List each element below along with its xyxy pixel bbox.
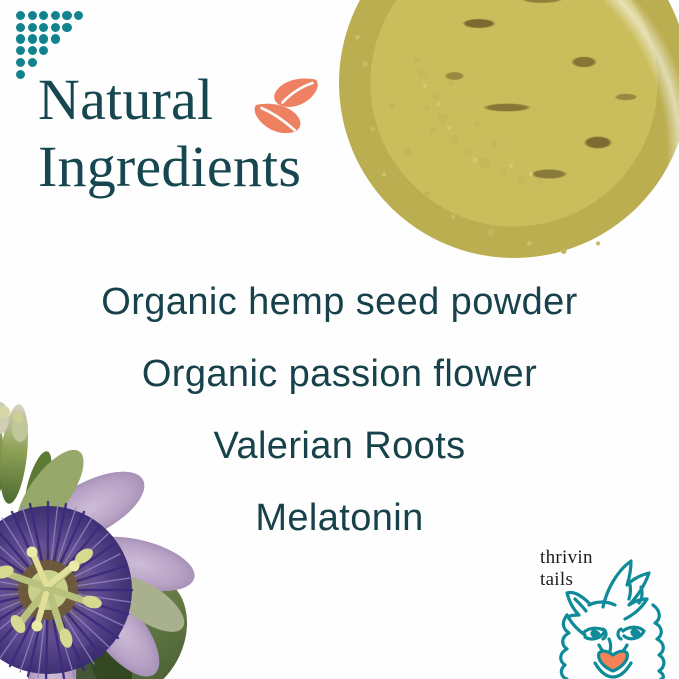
brand-logo: thrivin tails <box>505 545 679 679</box>
logo-dot <box>39 23 48 32</box>
logo-dot <box>62 11 71 20</box>
logo-dot <box>16 11 25 20</box>
logo-dot <box>28 58 37 67</box>
logo-dot <box>16 58 25 67</box>
logo-dot <box>16 46 25 55</box>
logo-dot <box>16 34 25 43</box>
powder-crumbs <box>389 0 679 208</box>
logo-dot <box>28 11 37 20</box>
logo-dot <box>51 11 60 20</box>
natural-ingredients-product-graphic: Natural Ingredients <box>0 0 679 679</box>
logo-dot <box>62 23 71 32</box>
logo-dot <box>39 11 48 20</box>
list-item: Organic hemp seed powder <box>0 266 679 338</box>
logo-dot <box>28 23 37 32</box>
logo-dot <box>39 34 48 43</box>
hemp-seed-powder-photo <box>339 0 679 258</box>
two-leaf-icon <box>253 76 319 138</box>
logo-dot <box>51 34 60 43</box>
logo-dot <box>51 23 60 32</box>
logo-dot <box>28 34 37 43</box>
logo-dot <box>16 70 25 79</box>
logo-dot <box>74 11 83 20</box>
passion-flower-photo <box>0 388 232 679</box>
dog-face-logo <box>545 553 679 679</box>
logo-dot <box>28 46 37 55</box>
logo-dot <box>39 46 48 55</box>
logo-dot <box>16 23 25 32</box>
